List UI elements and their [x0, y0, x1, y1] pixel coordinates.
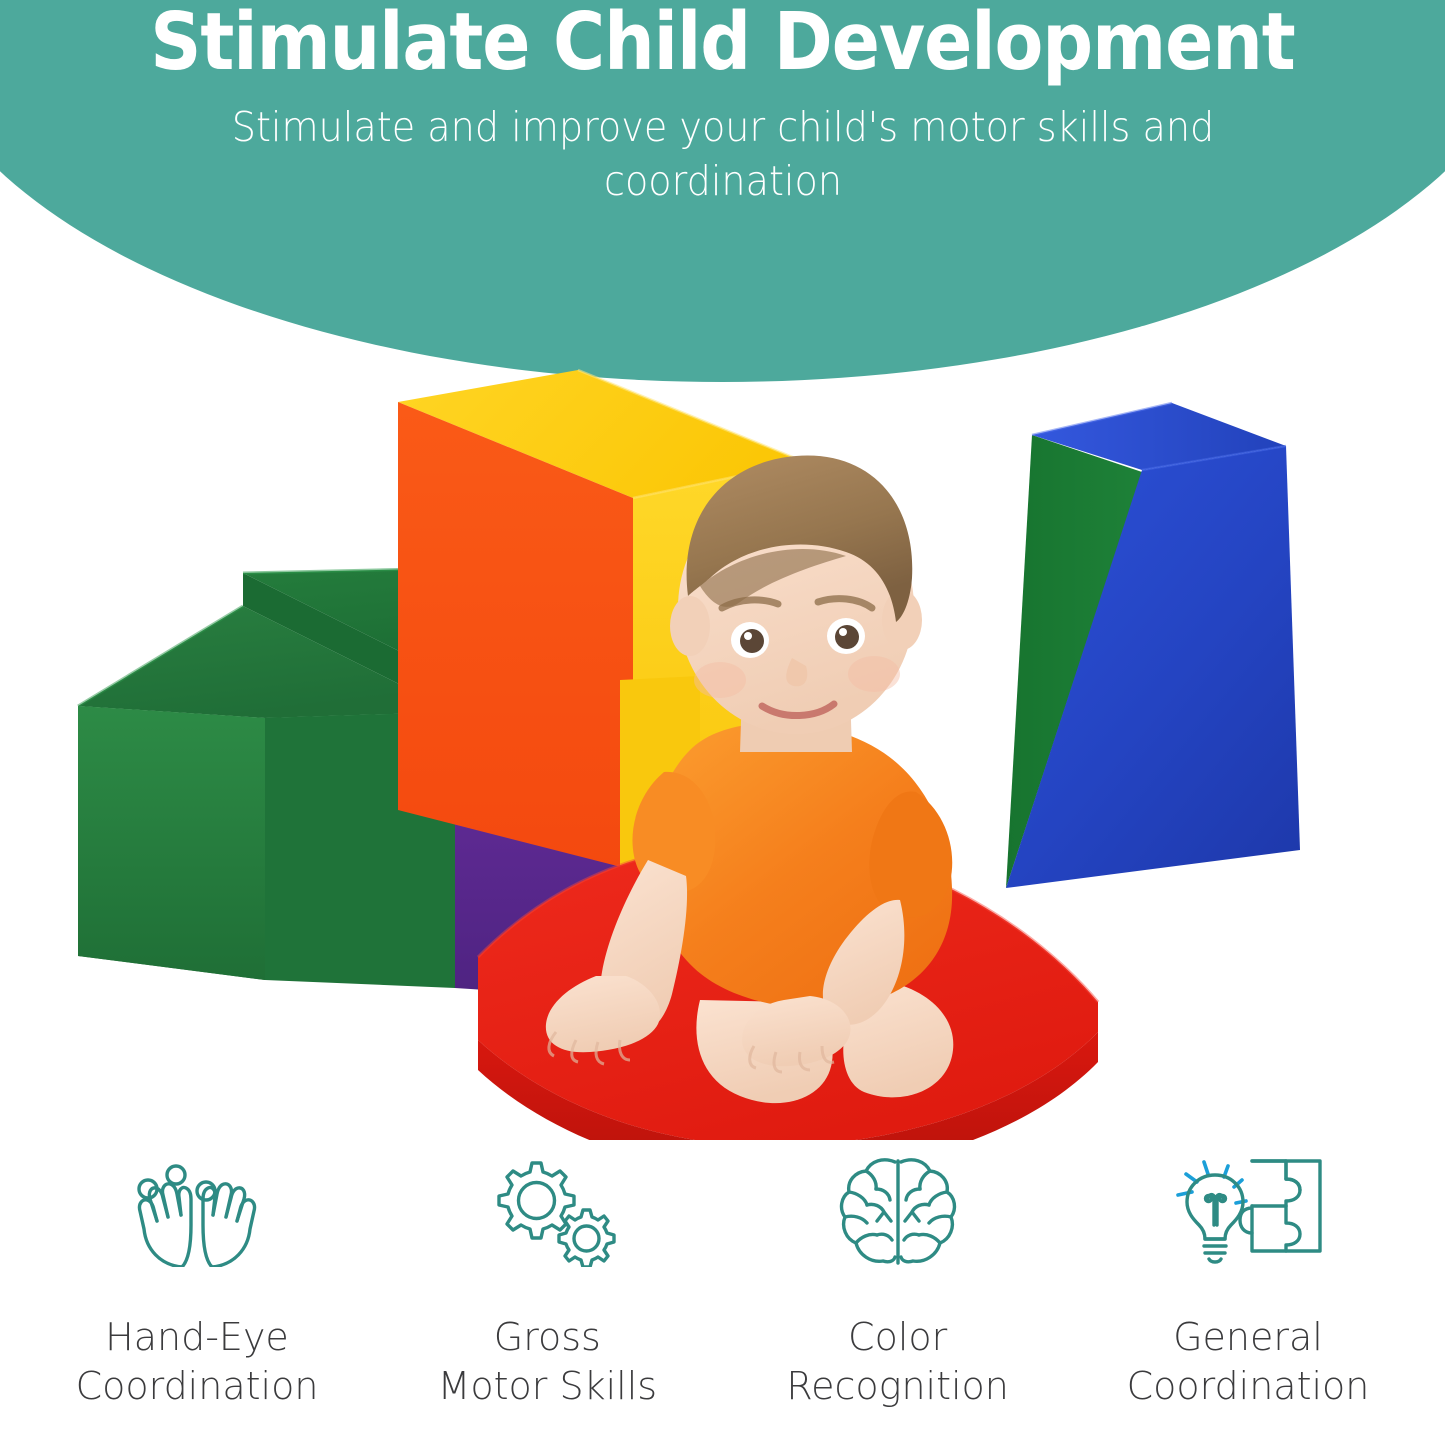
feature-item-color-recognition: Color Recognition — [739, 1155, 1057, 1412]
header-text-block: Stimulate Child Development Stimulate an… — [0, 0, 1445, 208]
soft-play-set-illustration — [0, 340, 1445, 1140]
feature-label: Hand-Eye Coordination — [76, 1313, 319, 1412]
feature-item-general-coordination: General Coordination — [1089, 1155, 1407, 1412]
brain-icon — [833, 1155, 963, 1267]
gears-icon — [472, 1155, 622, 1267]
lightbulb-puzzle-icon — [1168, 1155, 1328, 1267]
feature-list: Hand-Eye Coordination Gross Motor Skills — [0, 1155, 1445, 1445]
page-title: Stimulate Child Development — [72, 0, 1373, 85]
clapping-hands-icon — [122, 1155, 272, 1267]
blue-green-wedge — [1000, 403, 1300, 888]
feature-label: General Coordination — [1127, 1313, 1370, 1412]
feature-item-gross-motor-skills: Gross Motor Skills — [388, 1155, 706, 1412]
feature-label: Gross Motor Skills — [438, 1313, 657, 1412]
header-banner: Stimulate Child Development Stimulate an… — [0, 0, 1445, 382]
feature-item-hand-eye-coordination: Hand-Eye Coordination — [38, 1155, 356, 1412]
product-photo — [0, 340, 1445, 1140]
feature-label: Color Recognition — [786, 1313, 1008, 1412]
page-subtitle: Stimulate and improve your child's motor… — [211, 101, 1234, 208]
